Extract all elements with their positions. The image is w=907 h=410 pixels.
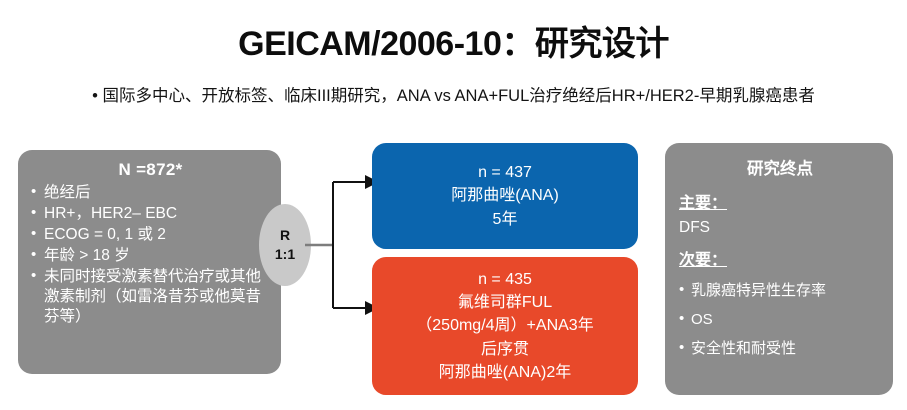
treatment-arm-ana: n = 437 阿那曲唑(ANA) 5年 (372, 143, 638, 249)
secondary-endpoint-list: 乳腺癌特异性生存率 OS 安全性和耐受性 (679, 282, 881, 358)
endpoints-title: 研究终点 (679, 155, 881, 179)
primary-endpoint-heading: 主要： (679, 189, 727, 213)
page-title: GEICAM/2006-10：研究设计 (0, 16, 907, 65)
list-item: 安全性和耐受性 (679, 340, 881, 358)
endpoints-box: 研究终点 主要： DFS 次要： 乳腺癌特异性生存率 OS 安全性和耐受性 (665, 143, 893, 395)
arm-ful-followon: 阿那曲唑(ANA)2年 (439, 361, 571, 384)
arm-ful-sequence: 后序贯 (481, 338, 529, 361)
slide-subtitle: • 国际多中心、开放标签、临床III期研究，ANA vs ANA+FUL治疗绝经… (0, 82, 907, 106)
arm-ana-n: n = 437 (478, 161, 532, 184)
list-item: OS (679, 311, 881, 329)
eligibility-criteria-list: 绝经后 HR+，HER2– EBC ECOG = 0, 1 或 2 年龄 > 1… (30, 183, 271, 327)
eligibility-box: N =872* 绝经后 HR+，HER2– EBC ECOG = 0, 1 或 … (18, 150, 281, 374)
list-item: 绝经后 (30, 183, 271, 203)
treatment-arm-ful: n = 435 氟维司群FUL （250mg/4周）+ANA3年 后序贯 阿那曲… (372, 257, 638, 395)
list-item: 未同时接受激素替代治疗或其他激素制剂（如雷洛昔芬或他莫昔芬等） (30, 267, 271, 327)
arm-ana-duration: 5年 (493, 208, 518, 231)
arm-ful-drug: 氟维司群FUL (458, 291, 552, 314)
list-item: HR+，HER2– EBC (30, 204, 271, 224)
randomization-label: R (280, 226, 290, 245)
arm-ana-drug: 阿那曲唑(ANA) (451, 184, 559, 207)
enrollment-count-label: N =872* (30, 160, 271, 180)
primary-endpoint-value: DFS (679, 219, 881, 237)
list-item: ECOG = 0, 1 或 2 (30, 225, 271, 245)
list-item: 乳腺癌特异性生存率 (679, 282, 881, 300)
arm-ful-dose: （250mg/4周）+ANA3年 (416, 314, 593, 337)
list-item: 年龄 > 18 岁 (30, 246, 271, 266)
randomization-node: R 1:1 (259, 204, 311, 286)
arm-ful-n: n = 435 (478, 268, 532, 291)
randomization-ratio: 1:1 (275, 245, 295, 264)
secondary-endpoint-heading: 次要： (679, 246, 727, 270)
